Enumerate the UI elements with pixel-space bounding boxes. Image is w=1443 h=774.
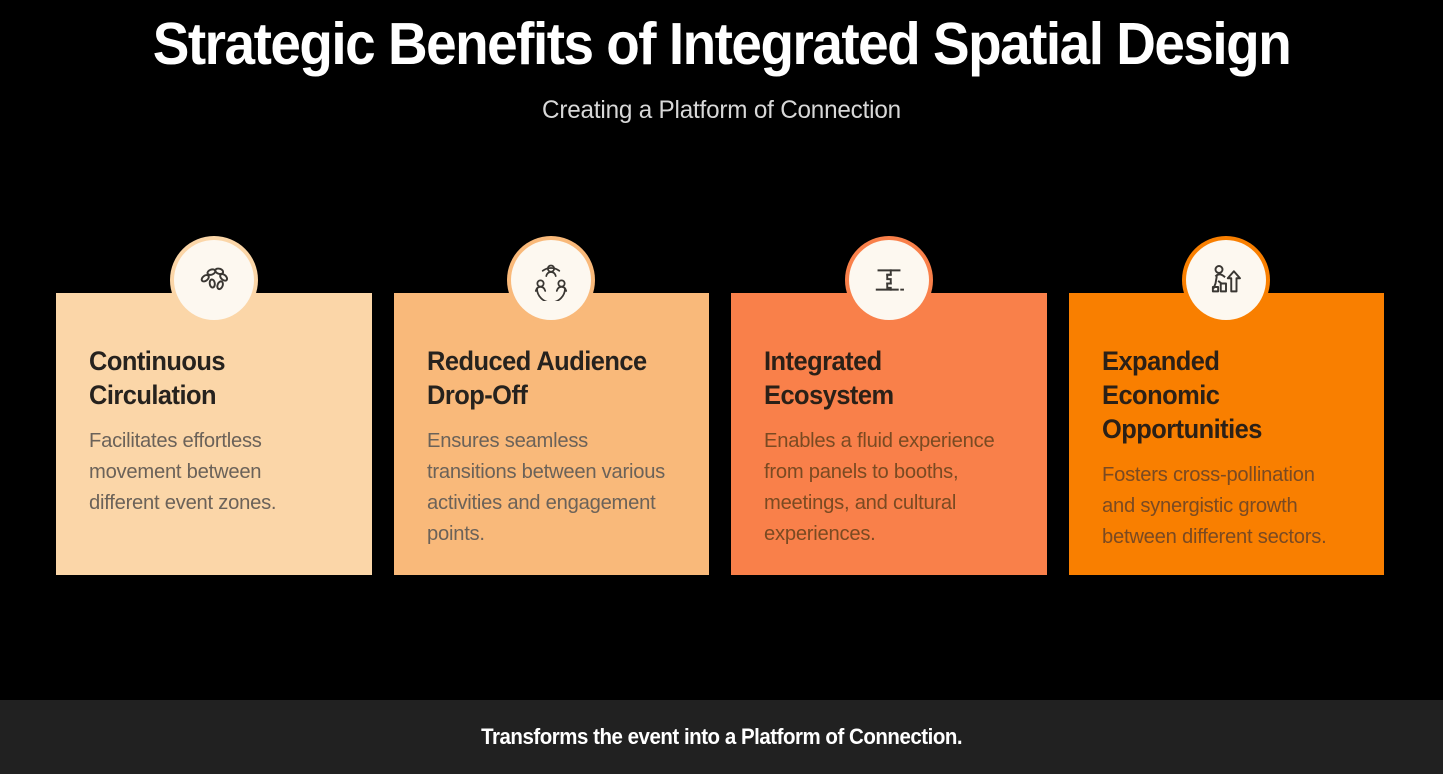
card-description: Facilitates effortless movement between … [89, 425, 336, 518]
card-description: Fosters cross-pollination and synergisti… [1102, 459, 1349, 552]
benefit-icon-badge [174, 240, 254, 320]
footer-text: Transforms the event into a Platform of … [481, 724, 962, 750]
card-title: Expanded Economic Opportunities [1102, 345, 1342, 447]
benefit-card-integrated-ecosystem[interactable]: Integrated Ecosystem Enables a fluid exp… [731, 293, 1047, 575]
benefit-card-reduced-audience-drop-off[interactable]: Reduced Audience Drop-Off Ensures seamle… [394, 293, 710, 575]
card-title: Continuous Circulation [89, 345, 329, 413]
benefit-cards-row: Continuous Circulation Facilitates effor… [56, 293, 1384, 575]
page-subtitle: Creating a Platform of Connection [22, 96, 1422, 125]
card-description: Ensures seamless transitions between var… [427, 425, 674, 550]
footer-bar: Transforms the event into a Platform of … [0, 700, 1443, 774]
benefit-icon-badge [511, 240, 591, 320]
benefit-icon-badge [1186, 240, 1266, 320]
people-circle-icon [530, 259, 572, 301]
slide-header: Strategic Benefits of Integrated Spatial… [0, 0, 1443, 125]
card-title: Reduced Audience Drop-Off [427, 345, 667, 413]
flow-network-icon [868, 259, 910, 301]
benefit-card-continuous-circulation[interactable]: Continuous Circulation Facilitates effor… [56, 293, 372, 575]
card-description: Enables a fluid experience from panels t… [764, 425, 1011, 550]
benefit-icon-badge [849, 240, 929, 320]
card-title: Integrated Ecosystem [764, 345, 1004, 413]
page-title: Strategic Benefits of Integrated Spatial… [51, 14, 1393, 76]
benefit-card-expanded-economic-opportunities[interactable]: Expanded Economic Opportunities Fosters … [1069, 293, 1385, 575]
growth-steps-icon [1205, 259, 1247, 301]
seeds-scatter-icon [193, 259, 235, 301]
